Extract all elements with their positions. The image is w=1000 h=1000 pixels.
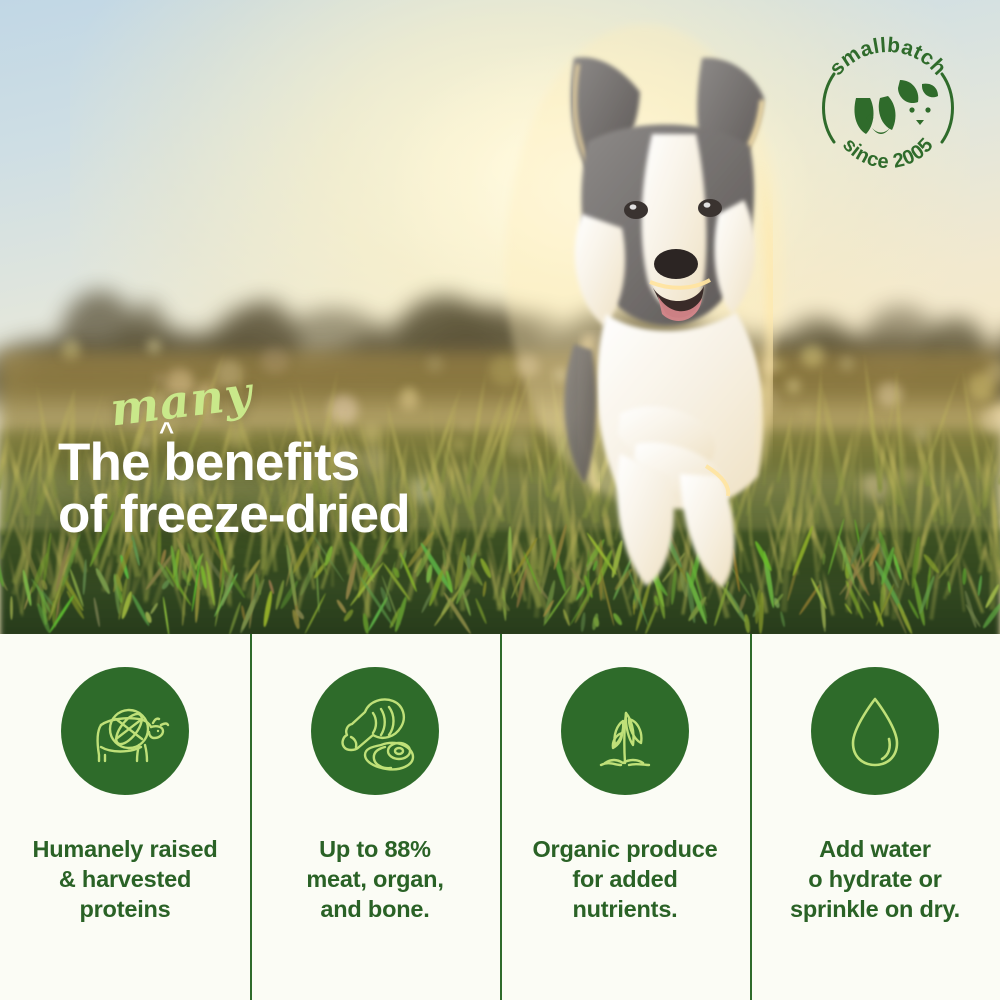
headline-line-2: of freeze-dried [58,489,410,541]
headline-caret-mark: ^ [159,418,174,444]
benefit-caption-4: Add watero hydrate orsprinkle on dry. [790,834,960,924]
benefit-caption-3: Organic producefor addednutrients. [532,834,717,924]
headline-line-1: The benefits [58,437,410,489]
brand-logo[interactable]: smallbatch since 2005 [804,22,972,190]
dog-and-cat-faces-mark [854,80,938,134]
marketing-graphic: many ^ The benefits of freeze-dried smal… [0,0,1000,1000]
meat-cuts-icon [311,667,439,795]
hero-photo: many ^ The benefits of freeze-dried smal… [0,0,1000,634]
benefit-cell-3: Organic producefor addednutrients. [500,634,750,1000]
logo-top-text: smallbatch [825,34,951,80]
sprout-icon [561,667,689,795]
benefits-panel: Humanely raised& harvestedproteins Up to… [0,634,1000,1000]
water-drop-icon [811,667,939,795]
benefit-caption-1: Humanely raised& harvestedproteins [32,834,217,924]
benefit-cell-2: Up to 88%meat, organ,and bone. [250,634,500,1000]
logo-bottom-text: since 2005 [838,134,938,173]
svg-text:since 2005: since 2005 [838,134,938,173]
benefit-caption-2: Up to 88%meat, organ,and bone. [306,834,443,924]
headline: many ^ The benefits of freeze-dried [58,437,410,542]
benefit-cell-1: Humanely raised& harvestedproteins [0,634,250,1000]
dog-photo-subject [470,14,800,634]
benefit-cell-4: Add watero hydrate orsprinkle on dry. [750,634,1000,1000]
svg-text:smallbatch: smallbatch [825,34,951,80]
cow-icon [61,667,189,795]
